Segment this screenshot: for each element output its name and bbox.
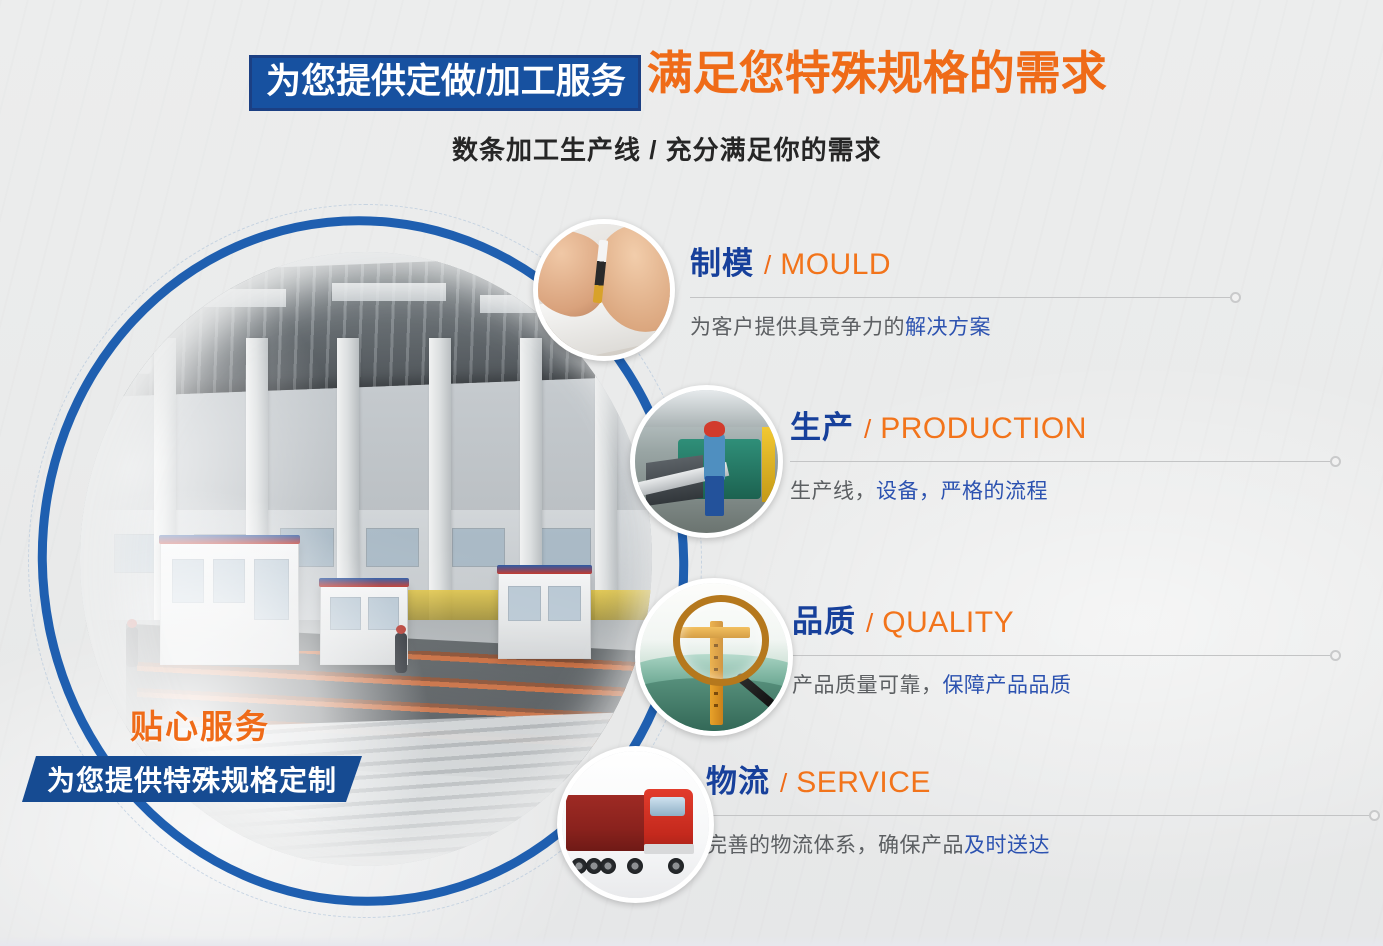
feature-description: 产品质量可靠，保障产品品质 bbox=[792, 669, 1335, 699]
feature-item-quality: 品质 / QUALITY 产品质量可靠，保障产品品质 bbox=[792, 596, 1335, 699]
service-banner-label: 为您提供特殊规格定制 bbox=[47, 759, 337, 799]
feature-description-plain: 产品质量可靠， bbox=[792, 674, 943, 697]
feature-heading: 生产 / PRODUCTION bbox=[790, 402, 1335, 447]
feature-description: 为客户提供具竞争力的解决方案 bbox=[690, 311, 1235, 341]
feature-divider bbox=[706, 815, 1374, 816]
feature-item-mould: 制模 / MOULD 为客户提供具竞争力的解决方案 bbox=[690, 238, 1235, 341]
feature-title-cn: 制模 bbox=[690, 238, 754, 283]
headline-row: 为您提供定做/加工服务 满足您特殊规格的需求 bbox=[249, 55, 1107, 111]
service-badge: 为您提供定做/加工服务 bbox=[249, 55, 641, 111]
feature-item-production: 生产 / PRODUCTION 生产线，设备，严格的流程 bbox=[790, 402, 1335, 505]
feature-item-service: 物流 / SERVICE 完善的物流体系，确保产品及时送达 bbox=[706, 756, 1374, 859]
feature-description-highlight: 及时送达 bbox=[964, 834, 1050, 857]
feature-title-en: PRODUCTION bbox=[880, 412, 1087, 446]
feature-heading: 制模 / MOULD bbox=[690, 238, 1235, 283]
delivery-truck-icon bbox=[557, 746, 714, 903]
feature-separator: / bbox=[866, 608, 873, 639]
feature-description-plain: 为客户提供具竞争力的 bbox=[690, 316, 905, 339]
endpoint-dot-icon bbox=[1230, 292, 1241, 303]
endpoint-dot-icon bbox=[1330, 456, 1341, 467]
feature-description-plain: 生产线， bbox=[790, 480, 876, 503]
feature-title-en: QUALITY bbox=[882, 606, 1014, 640]
feature-divider bbox=[792, 655, 1335, 656]
feature-separator: / bbox=[780, 768, 787, 799]
feature-description-plain: 完善的物流体系，确保产品 bbox=[706, 834, 964, 857]
endpoint-dot-icon bbox=[1330, 650, 1341, 661]
drafting-hands-icon bbox=[533, 219, 675, 361]
bottom-strip bbox=[0, 936, 1383, 946]
magnifier-inspection-icon bbox=[635, 578, 793, 736]
feature-title-cn: 生产 bbox=[790, 402, 854, 447]
feature-heading: 品质 / QUALITY bbox=[792, 596, 1335, 641]
feature-title-en: MOULD bbox=[780, 248, 891, 282]
feature-title-cn: 品质 bbox=[792, 596, 856, 641]
page-subtitle: 数条加工生产线 / 充分满足你的需求 bbox=[452, 130, 882, 167]
feature-description: 完善的物流体系，确保产品及时送达 bbox=[706, 829, 1374, 859]
feature-divider bbox=[690, 297, 1235, 298]
promo-banner-stage: 为您提供定做/加工服务 满足您特殊规格的需求 数条加工生产线 / 充分满足你的需… bbox=[0, 0, 1383, 946]
feature-description-highlight: 解决方案 bbox=[905, 316, 991, 339]
feature-separator: / bbox=[864, 414, 871, 445]
feature-separator: / bbox=[764, 250, 771, 281]
factory-worker-icon bbox=[630, 385, 783, 538]
feature-title-en: SERVICE bbox=[796, 766, 931, 800]
feature-description-highlight: 保障产品品质 bbox=[943, 674, 1072, 697]
feature-title-cn: 物流 bbox=[706, 756, 770, 801]
feature-description-highlight: 设备，严格的流程 bbox=[876, 480, 1048, 503]
endpoint-dot-icon bbox=[1369, 810, 1380, 821]
service-highlight-block: 贴心服务 为您提供特殊规格定制 bbox=[22, 700, 422, 802]
header: 为您提供定做/加工服务 满足您特殊规格的需求 数条加工生产线 / 充分满足你的需… bbox=[0, 0, 1383, 190]
feature-heading: 物流 / SERVICE bbox=[706, 756, 1374, 801]
page-title: 满足您特殊规格的需求 bbox=[647, 50, 1107, 96]
service-title: 贴心服务 bbox=[50, 700, 350, 748]
feature-description: 生产线，设备，严格的流程 bbox=[790, 475, 1335, 505]
service-badge-label: 为您提供定做/加工服务 bbox=[266, 64, 626, 99]
feature-divider bbox=[790, 461, 1335, 462]
service-banner: 为您提供特殊规格定制 bbox=[22, 756, 362, 802]
